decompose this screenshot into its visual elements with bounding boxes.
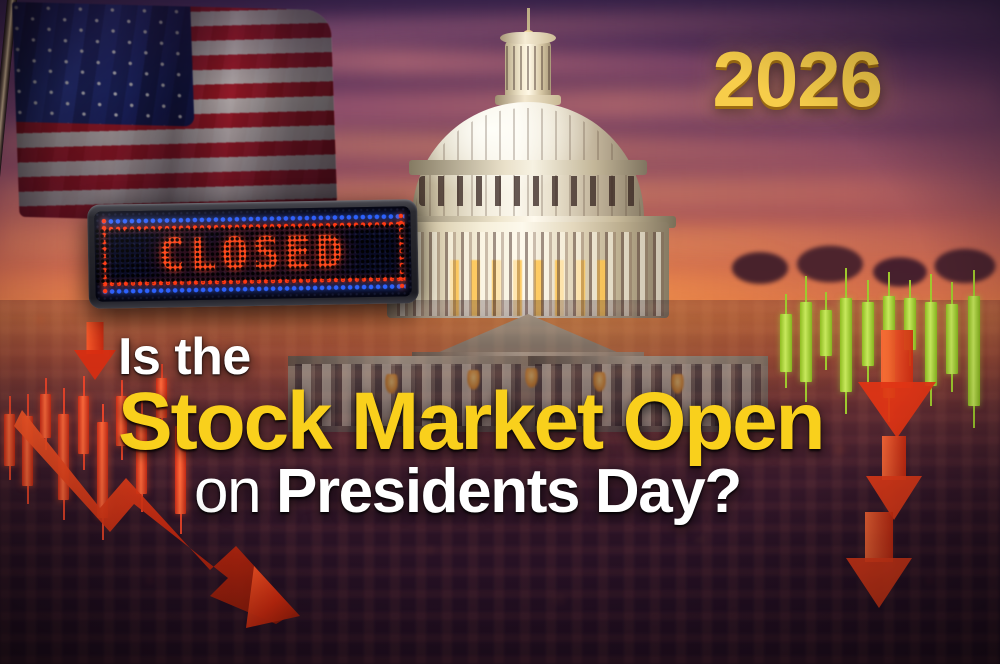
candlestick-body [968,296,980,406]
headline-line-3: on Presidents Day? [194,461,908,523]
dome-windows [419,176,637,206]
flag-dim-overlay [12,2,338,225]
led-panel: CLOSED [94,206,412,302]
candlestick-body [946,304,958,374]
american-flag [12,2,338,225]
headline-line-2: Stock Market Open [118,381,908,463]
headline-line-3-bold: Presidents Day? [276,457,741,526]
headline-block: Is the Stock Market Open on Presidents D… [118,332,908,523]
led-closed-sign[interactable]: CLOSED [87,199,419,309]
cupola-columns [506,46,550,90]
candlestick [968,270,980,428]
candlestick [946,282,958,392]
down-arrow-icon [74,322,116,382]
headline-line-3-light: on [194,457,276,526]
poster-canvas: CLOSED 2026 Is the Stock Market Open on … [0,0,1000,664]
led-sign-text: CLOSED [95,226,412,283]
year-badge: 2026 [712,34,882,125]
down-arrow-icon [846,512,912,608]
dome-cornice [409,160,647,175]
